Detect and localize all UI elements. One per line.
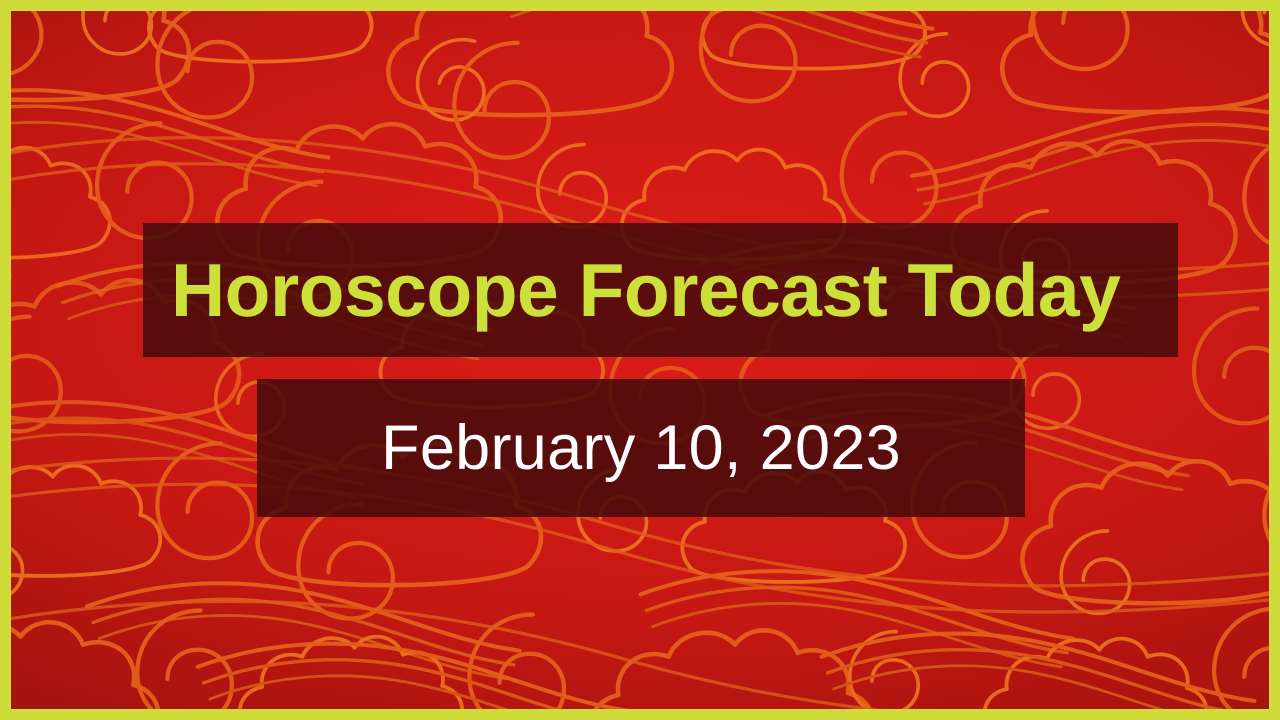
date-text: February 10, 2023 — [381, 417, 901, 480]
poster-canvas: Horoscope Forecast Today February 10, 20… — [0, 0, 1280, 720]
poster-background-field — [11, 11, 1269, 709]
page-title: Horoscope Forecast Today — [171, 253, 1120, 328]
date-band: February 10, 2023 — [257, 379, 1025, 517]
cloud-swirl-pattern-icon — [11, 11, 1269, 709]
headline-band: Horoscope Forecast Today — [143, 223, 1178, 357]
